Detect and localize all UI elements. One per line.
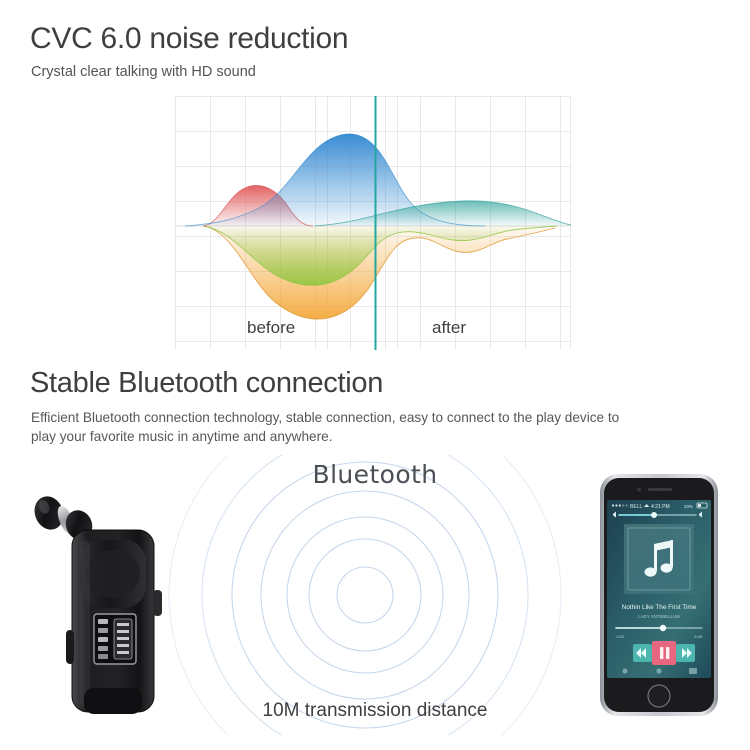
signal-ring-6 <box>202 455 528 735</box>
headset-body <box>66 530 162 714</box>
signal-ring-1 <box>337 567 393 623</box>
track-artist: LADY ANTEBELLUM <box>638 614 680 619</box>
chart-label-before: before <box>247 318 295 338</box>
waveform-chart: before after <box>175 96 571 350</box>
time-remaining: -3:45 <box>693 634 703 639</box>
side-button <box>153 590 162 616</box>
volume-knob <box>651 512 657 518</box>
left-nub <box>66 630 74 664</box>
repeat-icon <box>656 668 661 673</box>
play-pause-button <box>652 641 676 665</box>
shuffle-icon <box>622 668 627 673</box>
signal-ring-5 <box>232 462 498 728</box>
page-title: CVC 6.0 noise reduction <box>30 22 348 56</box>
time-elapsed: 1:53 <box>616 634 625 639</box>
earpiece-speaker <box>648 488 672 491</box>
status-time: 4:21 PM <box>651 504 670 510</box>
album-artwork <box>624 524 694 594</box>
phone-mockup: BELL 4:21 PM 20% <box>594 470 724 720</box>
control-panel <box>94 614 136 664</box>
status-carrier: BELL <box>630 504 642 510</box>
signal-ring-4 <box>261 491 469 699</box>
bluetooth-title: Stable Bluetooth connection <box>30 367 383 400</box>
bluetooth-description: Efficient Bluetooth connection technolog… <box>31 408 636 446</box>
chart-label-after: after <box>432 318 466 338</box>
signal-ring-2 <box>309 539 421 651</box>
track-title: Nothin Like The First Time <box>622 604 697 611</box>
signal-ring-3 <box>287 517 443 673</box>
page-subtitle: Crystal clear talking with HD sound <box>31 64 256 80</box>
headset-product-image <box>22 482 202 722</box>
home-button <box>648 685 670 707</box>
front-camera <box>637 488 641 492</box>
progress-knob <box>660 625 666 631</box>
bluetooth-signal-rings <box>160 455 580 735</box>
status-battery-pct: 20% <box>684 504 693 509</box>
playlist-icon <box>689 668 697 674</box>
signal-ring-7 <box>169 455 561 735</box>
transport-controls <box>633 641 695 665</box>
